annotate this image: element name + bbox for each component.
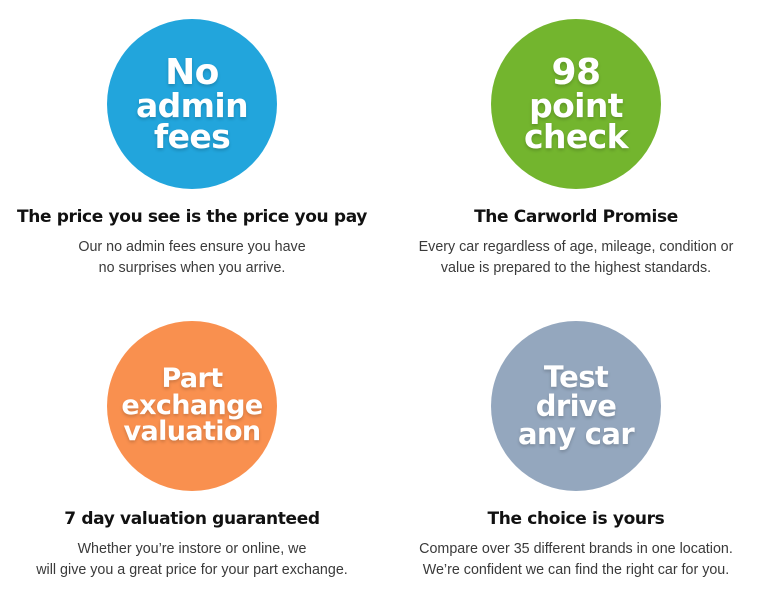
badge-line-3: fees — [154, 121, 230, 152]
badge-line-1: No — [165, 56, 219, 90]
benefit-headline: The Carworld Promise — [468, 207, 684, 227]
benefit-body: Whether you’re instore or online, we wil… — [2, 539, 382, 580]
badge-line-3: valuation — [123, 419, 260, 445]
benefit-card-part-exchange-valuation[interactable]: Part exchange valuation 7 day valuation … — [0, 307, 384, 614]
benefits-grid: No admin fees The price you see is the p… — [0, 0, 768, 614]
benefit-headline: The price you see is the price you pay — [11, 207, 373, 227]
badge-circle-test-drive-any-car: Test drive any car — [491, 321, 661, 491]
badge-line-1: Test — [544, 363, 608, 391]
badge-line-1: 98 — [552, 56, 601, 90]
benefit-body: Compare over 35 different brands in one … — [386, 539, 766, 580]
badge-line-3: any car — [518, 420, 634, 448]
benefit-card-no-admin-fees[interactable]: No admin fees The price you see is the p… — [0, 0, 384, 307]
benefit-body: Our no admin fees ensure you have no sur… — [74, 237, 309, 278]
benefit-card-test-drive-any-car[interactable]: Test drive any car The choice is yours C… — [384, 307, 768, 614]
badge-line-2: drive — [536, 392, 617, 420]
benefit-headline: The choice is yours — [482, 509, 671, 529]
badge-line-3: check — [524, 121, 628, 152]
badge-circle-98-point-check: 98 point check — [491, 19, 661, 189]
benefit-body: Every car regardless of age, mileage, co… — [386, 237, 766, 278]
benefit-card-98-point-check[interactable]: 98 point check The Carworld Promise Ever… — [384, 0, 768, 307]
benefit-headline: 7 day valuation guaranteed — [58, 509, 325, 529]
badge-line-1: Part — [161, 366, 222, 392]
badge-circle-no-admin-fees: No admin fees — [107, 19, 277, 189]
badge-circle-part-exchange-valuation: Part exchange valuation — [107, 321, 277, 491]
